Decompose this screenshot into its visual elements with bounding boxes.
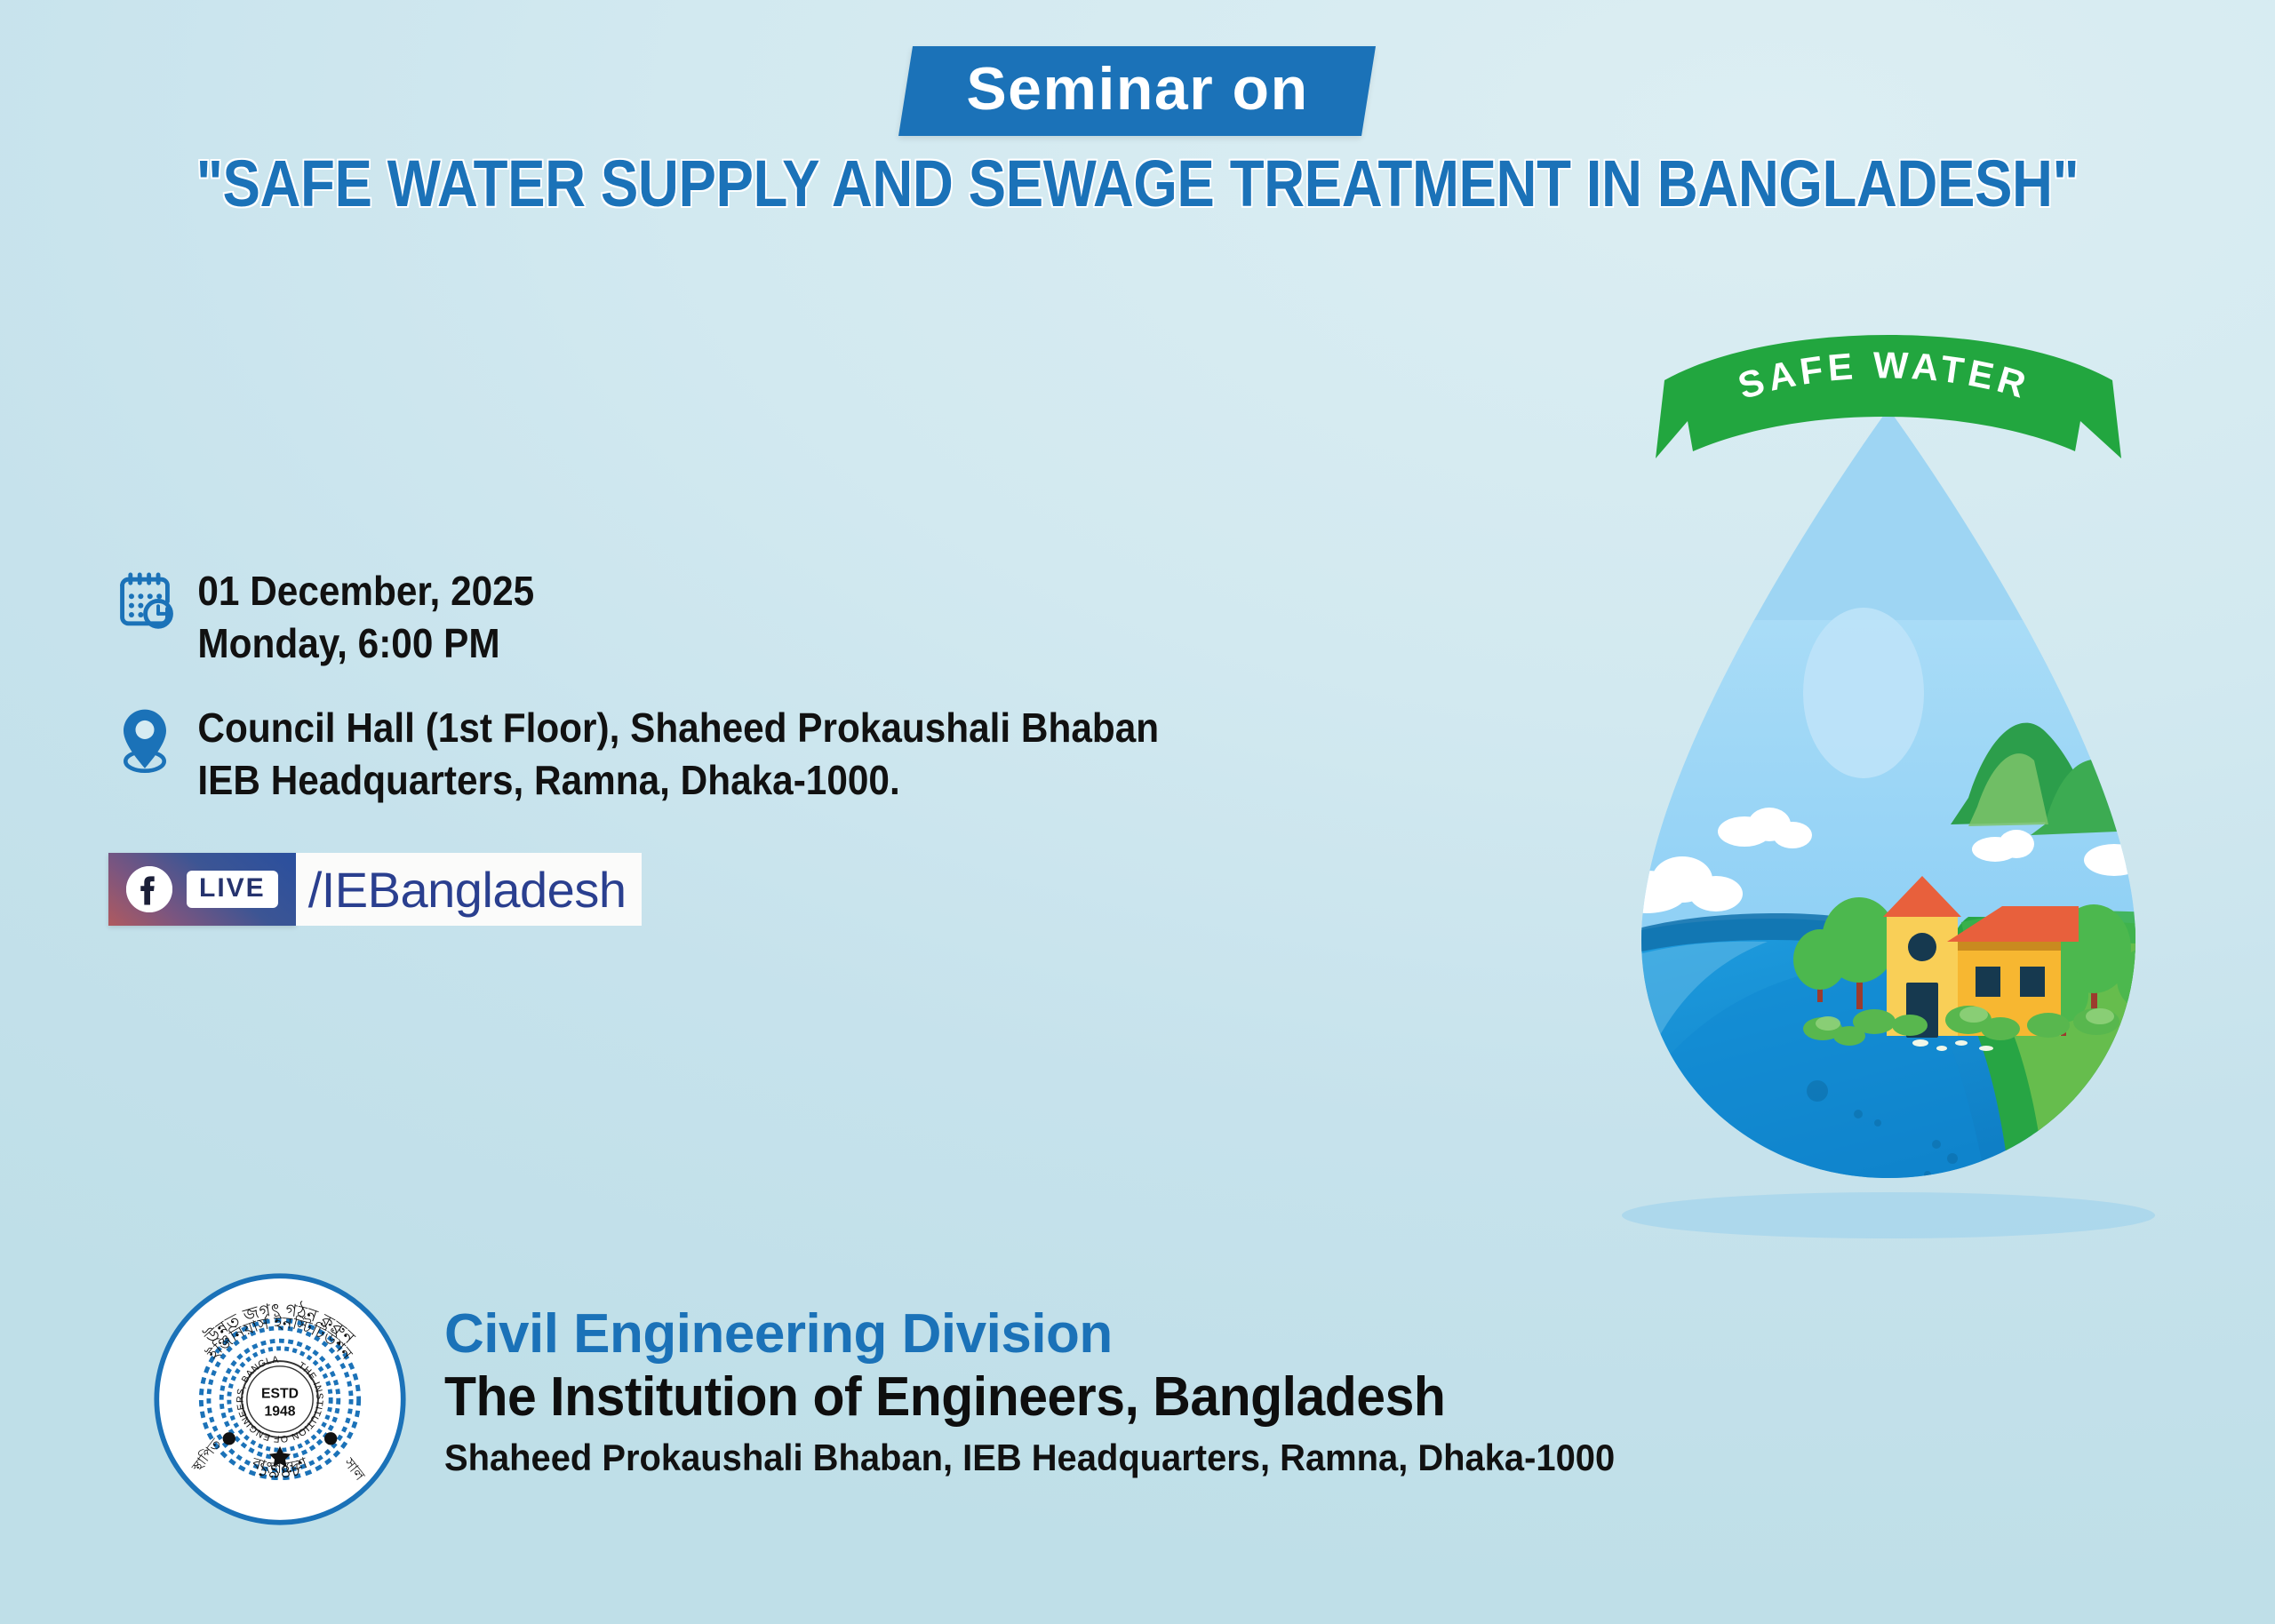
seminar-kicker-wrap: Seminar on xyxy=(0,46,2275,136)
drop-highlight xyxy=(1803,608,1924,778)
facebook-handle[interactable]: /IEBangladesh xyxy=(296,853,643,926)
svg-text:১৯৪৮: ১৯৪৮ xyxy=(254,1458,305,1483)
seminar-poster: Seminar on "SAFE WATER SUPPLY AND SEWAGE… xyxy=(0,0,2275,1624)
venue-line-2: IEB Headquarters, Ramna, Dhaka-1000. xyxy=(197,754,1275,807)
logo-estd-label: ESTD xyxy=(261,1387,299,1402)
page-title: "SAFE WATER SUPPLY AND SEWAGE TREATMENT … xyxy=(159,149,2116,219)
live-label: LIVE xyxy=(187,871,278,908)
facebook-live-row[interactable]: LIVE /IEBangladesh xyxy=(108,853,642,926)
date-row: 01 December, 2025 Monday, 6:00 PM xyxy=(108,565,1370,670)
facebook-live-badge[interactable]: LIVE xyxy=(108,853,296,926)
event-details: 01 December, 2025 Monday, 6:00 PM Counci… xyxy=(108,565,1370,839)
footer-text: Civil Engineering Division The Instituti… xyxy=(407,1272,1677,1480)
date-line-1: 01 December, 2025 xyxy=(197,565,1275,617)
footer: ESTD 1948 THE INSTITUTION OF ENGINEERS, … xyxy=(153,1272,1677,1526)
organization-name: The Institution of Engineers, Bangladesh xyxy=(444,1366,1615,1428)
division-name: Civil Engineering Division xyxy=(444,1304,1677,1365)
date-text: 01 December, 2025 Monday, 6:00 PM xyxy=(181,565,1275,670)
logo-estd-year: 1948 xyxy=(265,1405,296,1420)
logo-bn-year: ১৯৪৮ xyxy=(254,1458,305,1483)
facebook-f-icon xyxy=(126,866,172,912)
location-pin-icon xyxy=(108,702,181,791)
seminar-kicker-label: Seminar on xyxy=(967,59,1309,120)
date-line-2: Monday, 6:00 PM xyxy=(197,617,1275,670)
drop-scene xyxy=(1604,608,2208,1223)
seminar-kicker-banner: Seminar on xyxy=(898,46,1376,136)
drop-shadow xyxy=(1622,1192,2155,1238)
ieb-logo: ESTD 1948 THE INSTITUTION OF ENGINEERS, … xyxy=(153,1272,407,1526)
water-drop-illustration: SAFE WATER xyxy=(1551,327,2226,1286)
organization-address: Shaheed Prokaushali Bhaban, IEB Headquar… xyxy=(444,1436,1615,1480)
venue-line-1: Council Hall (1st Floor), Shaheed Prokau… xyxy=(197,702,1275,754)
venue-row: Council Hall (1st Floor), Shaheed Prokau… xyxy=(108,702,1370,807)
venue-text: Council Hall (1st Floor), Shaheed Prokau… xyxy=(181,702,1275,807)
calendar-clock-icon xyxy=(108,565,181,654)
